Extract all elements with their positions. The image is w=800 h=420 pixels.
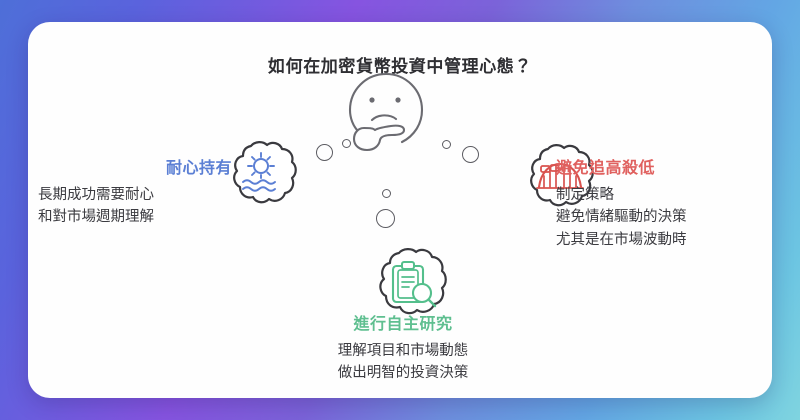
section-research: 進行自主研究 理解項目和市場動態 做出明智的投資決策 bbox=[258, 310, 548, 385]
avoid-fomo-line-3: 尤其是在市場波動時 bbox=[556, 229, 772, 251]
thought-dot-left-large bbox=[316, 144, 333, 161]
patience-line-1: 長期成功需要耐心 bbox=[32, 184, 240, 206]
avoid-fomo-heading: 避免追高殺低 bbox=[556, 154, 772, 178]
avoid-fomo-line-2: 避免情緒驅動的決策 bbox=[556, 206, 772, 228]
research-line-2: 做出明智的投資決策 bbox=[258, 362, 548, 384]
thought-dot-right-large bbox=[462, 146, 479, 163]
thought-dot-bottom-small bbox=[382, 189, 391, 198]
research-line-1: 理解項目和市場動態 bbox=[258, 340, 548, 362]
patience-heading: 耐心持有 bbox=[32, 154, 240, 178]
research-heading: 進行自主研究 bbox=[258, 310, 548, 334]
avoid-fomo-line-1: 制定策略 bbox=[556, 184, 772, 206]
thought-dot-right-small bbox=[442, 140, 451, 149]
thought-dot-bottom-large bbox=[376, 209, 395, 228]
patience-line-2: 和對市場週期理解 bbox=[32, 206, 240, 228]
section-avoid-fomo: 避免追高殺低 制定策略 避免情緒驅動的決策 尤其是在市場波動時 bbox=[556, 154, 772, 251]
infographic-card: 如何在加密貨幣投資中管理心態？ bbox=[28, 22, 772, 398]
slide-background: { "card": { "title": "如何在加密貨幣投資中管理心態？", … bbox=[0, 0, 800, 420]
thought-dot-left-small bbox=[342, 139, 351, 148]
section-patience: 耐心持有 長期成功需要耐心 和對市場週期理解 bbox=[32, 154, 240, 229]
